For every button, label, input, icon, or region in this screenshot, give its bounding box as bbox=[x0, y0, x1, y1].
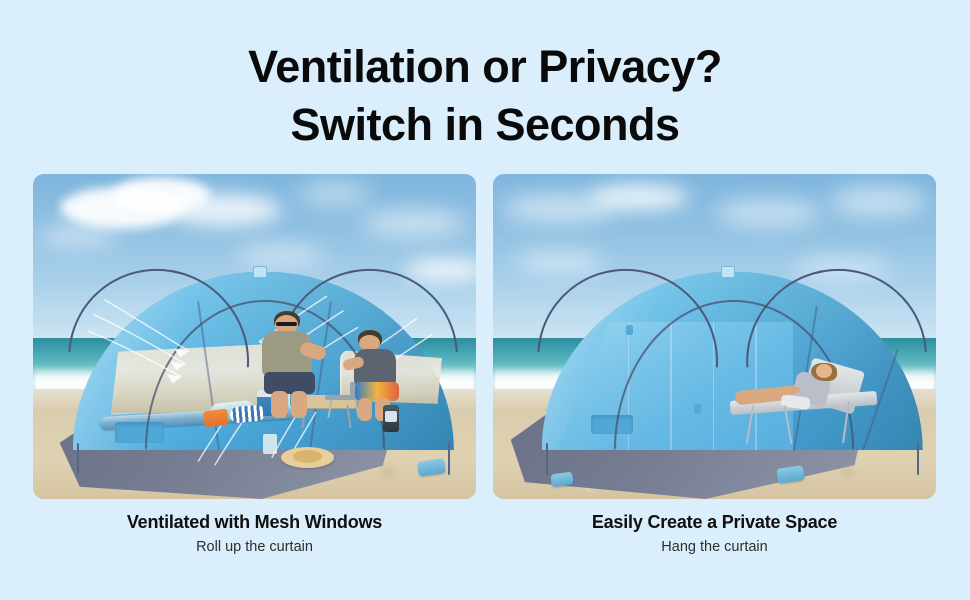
camping-lantern bbox=[383, 405, 399, 433]
lantern-glass bbox=[385, 411, 397, 423]
cloud bbox=[590, 184, 687, 210]
page-title-line-1: Ventilation or Privacy? bbox=[248, 41, 722, 92]
man-leg bbox=[291, 391, 308, 418]
panel-captions: Ventilated with Mesh Windows Roll up the… bbox=[33, 510, 937, 558]
panel-private bbox=[493, 174, 936, 499]
man-figure bbox=[255, 311, 330, 422]
tent-apex-clip bbox=[253, 266, 267, 278]
caption-subtitle: Hang the curtain bbox=[493, 536, 936, 558]
panel-ventilated bbox=[33, 174, 476, 499]
caption-ventilated: Ventilated with Mesh Windows Roll up the… bbox=[33, 510, 476, 558]
caption-title: Easily Create a Private Space bbox=[493, 510, 936, 534]
boy-leg bbox=[358, 398, 373, 422]
cloud bbox=[37, 226, 117, 246]
page-title-line-2: Switch in Seconds bbox=[0, 96, 970, 154]
tent-apex-clip bbox=[721, 266, 735, 278]
cloud bbox=[515, 252, 604, 272]
water-bottle bbox=[263, 434, 276, 454]
caption-subtitle: Roll up the curtain bbox=[33, 536, 476, 558]
beach-scene-private bbox=[493, 174, 936, 499]
tent-leg bbox=[917, 443, 919, 475]
lounge-chair bbox=[723, 363, 882, 448]
beach-scene-ventilated bbox=[33, 174, 476, 499]
man-shorts bbox=[264, 372, 315, 394]
man-leg bbox=[271, 391, 288, 418]
product-feature-graphic: Ventilation or Privacy? Switch in Second… bbox=[0, 0, 970, 600]
lounge-leg bbox=[784, 405, 793, 444]
cloud bbox=[237, 246, 326, 266]
cloud bbox=[361, 210, 467, 236]
tent-leg bbox=[448, 443, 450, 475]
woman-head bbox=[816, 364, 832, 378]
page-title: Ventilation or Privacy? Switch in Second… bbox=[0, 38, 970, 154]
cloud bbox=[166, 194, 281, 227]
tent-leg bbox=[77, 443, 79, 475]
beach-bag bbox=[203, 408, 229, 427]
tent-leg bbox=[546, 443, 548, 475]
caption-title: Ventilated with Mesh Windows bbox=[33, 510, 476, 534]
caption-private: Easily Create a Private Space Hang the c… bbox=[493, 510, 936, 558]
cloud bbox=[715, 200, 821, 226]
sunglasses-icon bbox=[276, 322, 297, 326]
comparison-panels bbox=[33, 174, 937, 499]
boy-figure bbox=[343, 330, 409, 424]
cloud bbox=[299, 184, 370, 204]
sandbag bbox=[776, 465, 804, 483]
